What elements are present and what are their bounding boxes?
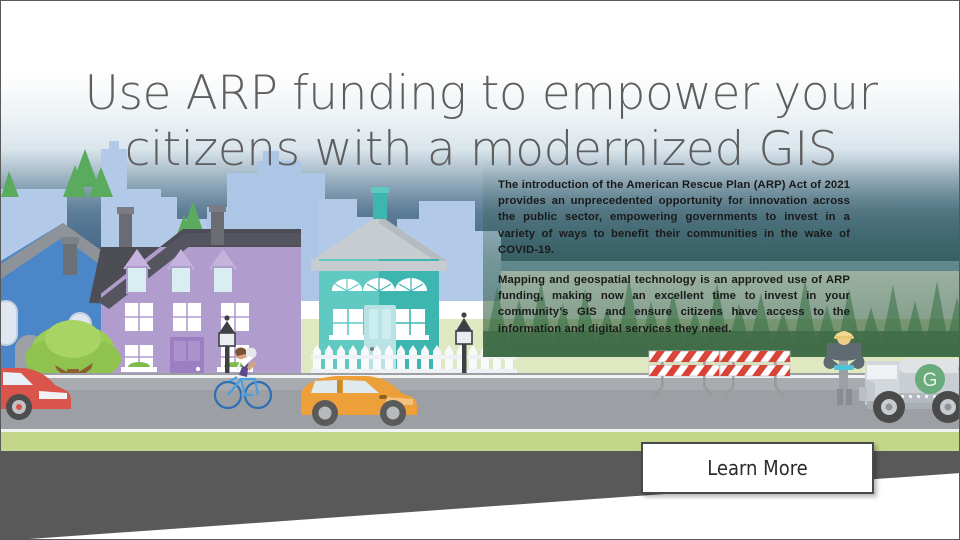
- road-barrier: [649, 351, 719, 397]
- page-title: Use ARP funding to empower your citizens…: [61, 66, 901, 178]
- body-text-block: The introduction of the American Rescue …: [498, 177, 850, 337]
- orange-car: [301, 376, 417, 426]
- street-objects: G: [1, 331, 960, 441]
- learn-more-label: Learn More: [707, 456, 808, 480]
- cyclist: [215, 348, 271, 408]
- slide-canvas: G Use ARP funding to empower your citize…: [0, 0, 960, 540]
- red-car: [1, 368, 71, 420]
- paragraph-2: Mapping and geospatial technology is an …: [498, 272, 850, 337]
- road-barrier: [720, 351, 790, 397]
- construction-worker: [824, 331, 865, 405]
- paragraph-1: The introduction of the American Rescue …: [498, 177, 850, 258]
- tanker-truck: G: [859, 359, 960, 423]
- truck-logo-letter: G: [923, 370, 938, 391]
- learn-more-button[interactable]: Learn More: [641, 442, 874, 494]
